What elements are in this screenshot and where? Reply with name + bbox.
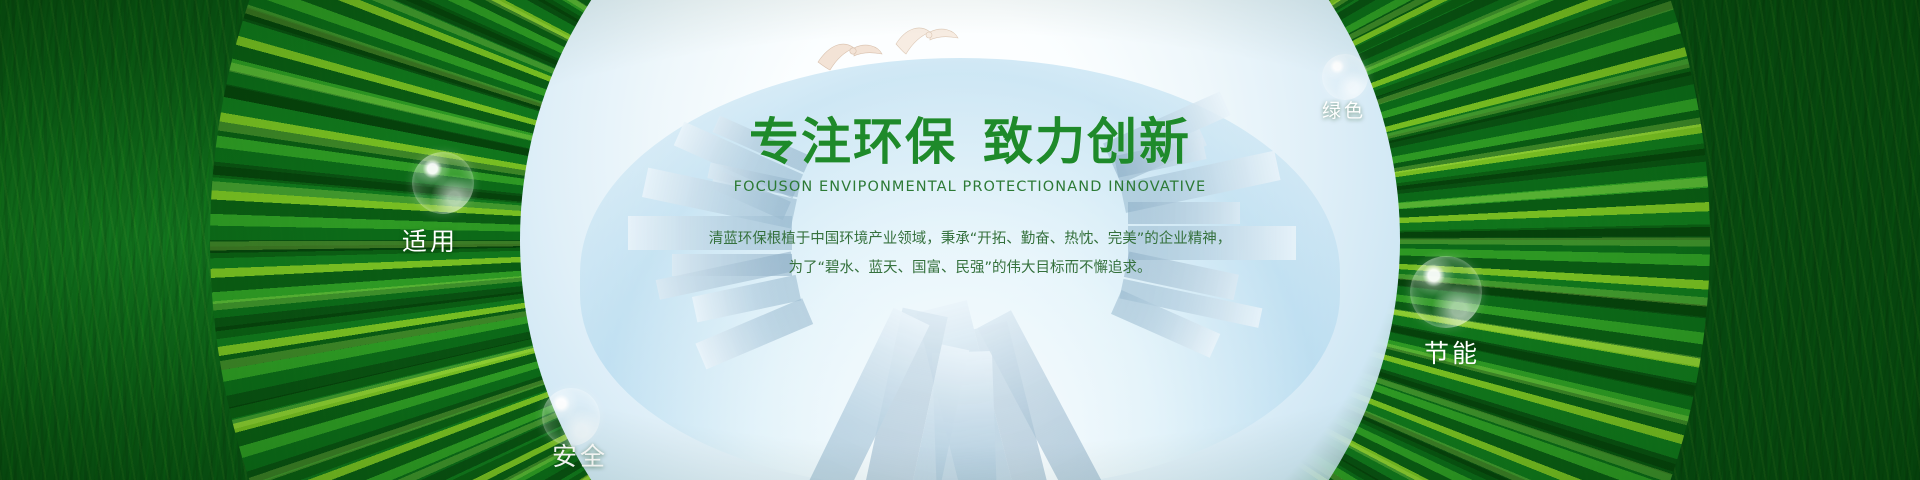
eco-hero-banner: 专注环保致力创新 FOCUSON ENVIPONMENTAL PROTECTIO…: [0, 0, 1920, 480]
bubble-jieneng-icon: [1410, 256, 1482, 328]
description-line-2: 为了“碧水、蓝天、国富、民强”的伟大目标而不懈追求。: [620, 254, 1320, 283]
bubble-label-anquan: 安全: [552, 437, 608, 473]
bubble-shiyong-icon: [412, 152, 474, 214]
flying-birds: [800, 18, 980, 98]
bubble-label-jieneng: 节能: [1424, 334, 1480, 370]
hero-copy-block: 专注环保致力创新 FOCUSON ENVIPONMENTAL PROTECTIO…: [620, 116, 1320, 283]
page-title: 专注环保致力创新: [620, 116, 1320, 169]
bubble-lvse-icon: [1322, 54, 1368, 100]
headline-part-1: 专注环保: [749, 113, 957, 171]
headline-part-2: 致力创新: [983, 113, 1191, 171]
description-line-1: 清蓝环保根植于中国环境产业领域，秉承“开拓、勤奋、热忱、完美”的企业精神，: [620, 225, 1320, 254]
headline-english-subtitle: FOCUSON ENVIPONMENTAL PROTECTIONAND INNO…: [620, 179, 1320, 195]
company-description: 清蓝环保根植于中国环境产业领域，秉承“开拓、勤奋、热忱、完美”的企业精神， 为了…: [620, 225, 1320, 283]
bubble-label-shiyong: 适用: [402, 222, 458, 258]
bubble-label-lvse: 绿色: [1322, 96, 1366, 123]
